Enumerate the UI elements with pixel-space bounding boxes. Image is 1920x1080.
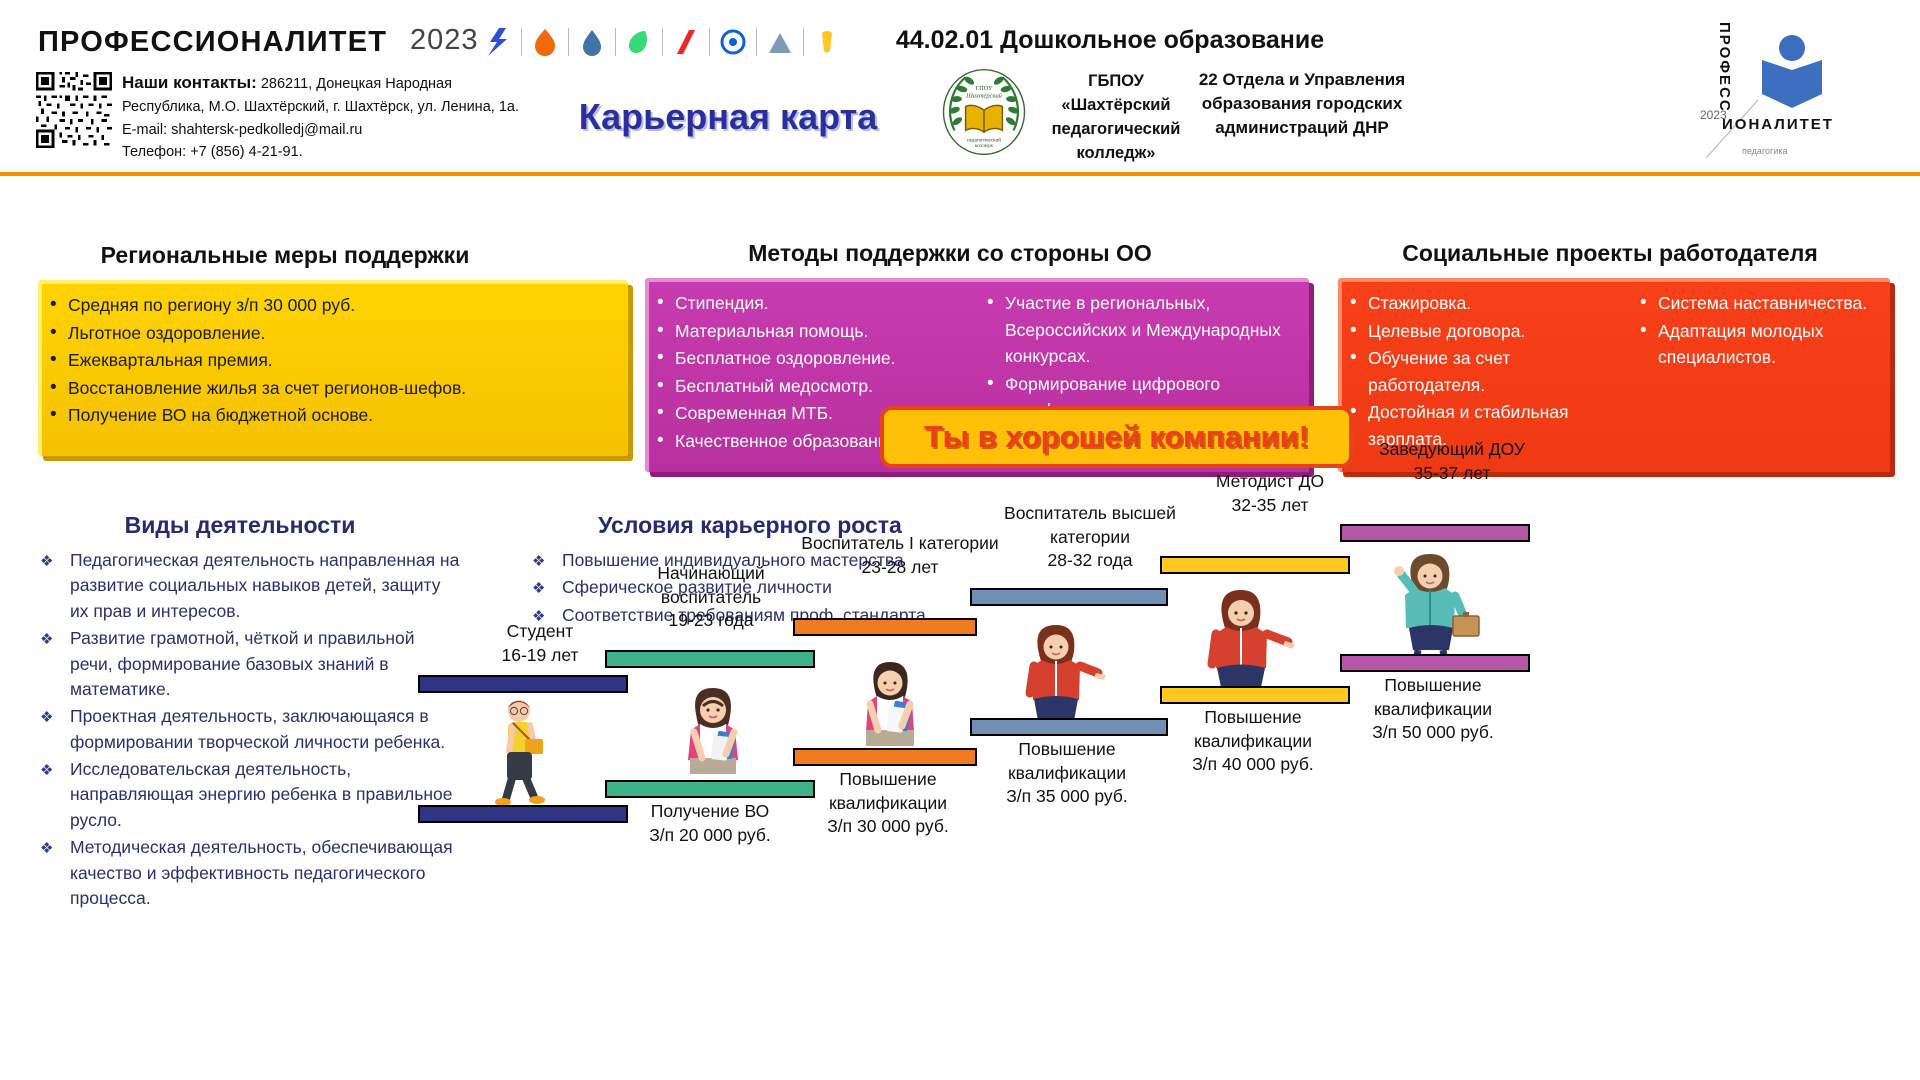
figure-student-icon: [486, 695, 556, 815]
brand-year: 2023: [410, 24, 479, 57]
step-base-2: [605, 780, 815, 798]
good-company-banner: Ты в хорошей компании!: [880, 406, 1353, 468]
list-item: ❖Методическая деятельность, обеспечивающ…: [28, 835, 460, 911]
list-item: Участие в региональных, Всероссийских и …: [979, 290, 1299, 370]
departments-count: 22 Отдела и Управления образования город…: [1196, 68, 1408, 140]
contacts-line2: Республика, М.О. Шахтёрский, г. Шахтёрск…: [122, 96, 562, 118]
list-item: ❖Проектная деятельность, заключающаяся в…: [28, 704, 460, 755]
list-item: Стипендия.: [649, 290, 979, 317]
step-note-4: Повышение квалификации З/п 35 000 руб.: [970, 738, 1164, 809]
corner-ribbon-decoration: [1320, 860, 1920, 1080]
professionalitet-logo-caption: педагогика: [1742, 146, 1787, 156]
list-item: ❖Исследовательская деятельность, направл…: [28, 757, 460, 833]
contacts-label: Наши контакты:: [122, 73, 257, 92]
career-map-poster: ПРОФЕССИОНАЛИТЕТ 2023: [0, 0, 1920, 1080]
step-base-5: [1160, 686, 1350, 704]
divider: [756, 28, 757, 56]
diamond-bullet-icon: ❖: [40, 760, 53, 782]
professionalitet-logo-year: 2023: [1700, 108, 1727, 122]
svg-text:ГПОУ: ГПОУ: [975, 85, 993, 92]
divider: [709, 28, 710, 56]
employer-projects-title: Социальные проекты работодателя: [1330, 240, 1890, 267]
college-emblem: ГПОУ Шахтёрский педагогический колледж: [938, 66, 1030, 158]
divider: [662, 28, 663, 56]
step-base-1: [418, 805, 628, 823]
regional-support-list: Средняя по региону з/п 30 000 руб. Льгот…: [42, 284, 628, 429]
methods-support-title: Методы поддержки со стороны ОО: [640, 240, 1260, 267]
diamond-bullet-icon: ❖: [40, 629, 53, 651]
step-label-3: Воспитатель I категории 23-28 лет: [800, 532, 1000, 579]
step-base-6: [1340, 654, 1530, 672]
leaf-green-icon: [619, 27, 659, 57]
flag-red-icon: [666, 27, 706, 57]
college-name: ГБПОУ «Шахтёрский педагогический колледж…: [1040, 70, 1192, 166]
step-bar-4: [970, 588, 1168, 606]
divider: [615, 28, 616, 56]
list-item: Адаптация молодых специалистов.: [1632, 318, 1872, 371]
list-item: Получение ВО на бюджетной основе.: [42, 402, 628, 429]
contacts-email[interactable]: E-mail: shahtersk-pedkolledj@mail.ru: [122, 119, 562, 141]
brand-title: ПРОФЕССИОНАЛИТЕТ: [38, 26, 387, 59]
header-divider: [0, 172, 1920, 176]
specialty-code: 44.02.01 Дошкольное образование: [790, 26, 1430, 55]
activities-list: ❖Педагогическая деятельность направленна…: [28, 548, 460, 913]
step-base-4: [970, 718, 1168, 736]
step-label-5: Методист ДО 32-35 лет: [1170, 470, 1370, 517]
list-item: Обучение за счет работодателя.: [1342, 345, 1632, 398]
step-note-5: Повышение квалификации З/п 40 000 руб.: [1160, 706, 1346, 777]
drop-orange-icon: [525, 27, 565, 57]
list-item: Бесплатное оздоровление.: [649, 345, 979, 372]
contacts-phone: Телефон: +7 (856) 4-21-91.: [122, 141, 562, 163]
step-bar-5: [1160, 556, 1350, 574]
divider: [568, 28, 569, 56]
drop-blue-icon: [572, 27, 612, 57]
target-icon: [713, 27, 753, 57]
professionalitet-logo-text-vertical: ПРОФЕСС: [1716, 22, 1733, 113]
step-note-6: Повышение квалификации З/п 50 000 руб.: [1340, 674, 1526, 745]
qr-code: [36, 72, 112, 148]
list-item: Средняя по региону з/п 30 000 руб.: [42, 292, 628, 319]
activities-title: Виды деятельности: [30, 512, 450, 539]
svg-text:колледж: колледж: [975, 143, 993, 149]
lightning-icon: [478, 27, 518, 57]
figure-young-teacher-icon: [672, 688, 754, 793]
divider: [521, 28, 522, 56]
list-item: Материальная помощь.: [649, 318, 979, 345]
step-note-2: Получение ВО З/п 20 000 руб.: [610, 800, 810, 847]
step-bar-3: [793, 618, 977, 636]
step-label-6: Заведующий ДОУ 35-37 лет: [1352, 438, 1552, 485]
list-item: Бесплатный медосмотр.: [649, 373, 979, 400]
contacts-line1: 286211, Донецкая Народная: [257, 76, 452, 92]
list-item: Ежеквартальная премия.: [42, 347, 628, 374]
step-bar-1: [418, 675, 628, 693]
list-item: Льготное оздоровление.: [42, 320, 628, 347]
list-item: Стажировка.: [1342, 290, 1632, 317]
list-item: ❖Педагогическая деятельность направленна…: [28, 548, 460, 624]
step-base-3: [793, 748, 977, 766]
page-title: Карьерная карта: [548, 96, 908, 138]
list-item: Система наставничества.: [1632, 290, 1872, 317]
regional-support-title: Региональные меры поддержки: [30, 242, 540, 269]
diamond-bullet-icon: ❖: [40, 838, 53, 860]
professionalitet-logo-text-horizontal: ИОНАЛИТЕТ: [1722, 116, 1834, 133]
contacts-block: Наши контакты: 286211, Донецкая Народная…: [122, 70, 562, 164]
list-item: Целевые договора.: [1342, 318, 1632, 345]
step-bar-2: [605, 650, 815, 668]
step-bar-6: [1340, 524, 1530, 542]
banner-text: Ты в хорошей компании!: [924, 419, 1309, 455]
figure-head-teacher-icon: [1385, 554, 1480, 669]
diamond-bullet-icon: ❖: [40, 707, 53, 729]
diamond-bullet-icon: ❖: [40, 551, 53, 573]
step-note-3: Повышение квалификации З/п 30 000 руб.: [798, 768, 978, 839]
list-item: ❖Развитие грамотной, чёткой и правильной…: [28, 626, 460, 702]
employer-projects-list-col2: Система наставничества. Адаптация молоды…: [1632, 282, 1872, 472]
list-item: Восстановление жилья за счет регионов-ше…: [42, 375, 628, 402]
svg-text:Шахтёрский: Шахтёрский: [965, 92, 1003, 99]
step-label-2: Начинающий воспитатель 19-23 года: [606, 562, 816, 633]
regional-support-panel: Средняя по региону з/п 30 000 руб. Льгот…: [38, 280, 628, 456]
